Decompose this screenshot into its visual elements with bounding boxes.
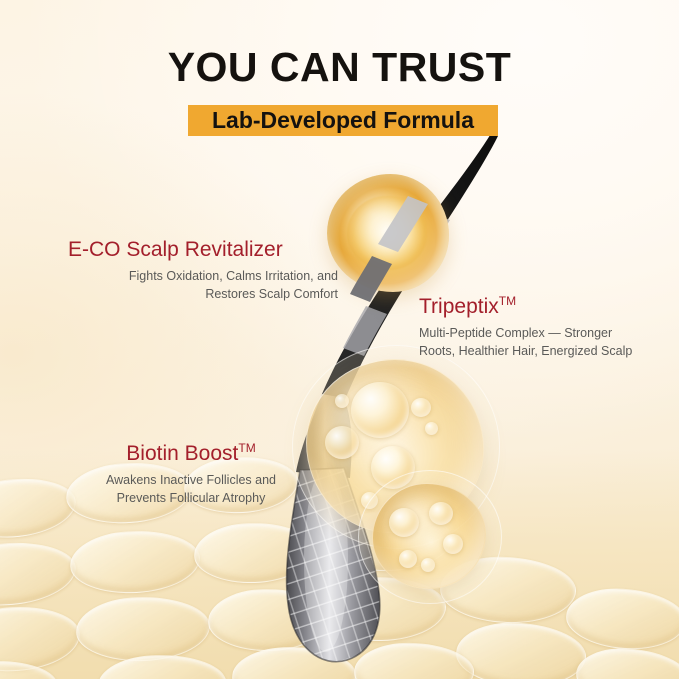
callout-body: Fights Oxidation, Calms Irritation, and … [38,267,338,303]
oil-droplet-top-core [347,196,427,270]
callout-body-line: Fights Oxidation, Calms Irritation, and [38,267,338,285]
callout-body-line: Roots, Healthier Hair, Energized Scalp [419,342,665,360]
callout-body: Multi-Peptide Complex — Stronger Roots, … [419,324,665,360]
callout-body-line: Prevents Follicular Atrophy [78,489,304,507]
callout-eco-scalp-revitalizer: E-CO Scalp Revitalizer Fights Oxidation,… [38,238,338,303]
callout-title-text: Tripeptix [419,295,499,318]
callout-title: E-CO Scalp Revitalizer [38,238,338,263]
page-headline: YOU CAN TRUST [0,44,679,91]
oil-droplet-small [372,483,486,589]
callout-title-text: E-CO Scalp Revitalizer [68,238,283,261]
lab-developed-badge: Lab-Developed Formula [188,105,498,136]
trademark-mark: TM [238,441,255,455]
callout-body-line: Awakens Inactive Follicles and [78,471,304,489]
product-ingredient-infographic: YOU CAN TRUST Lab-Developed Formula E-CO… [0,0,679,679]
callout-title-text: Biotin Boost [126,442,238,465]
callout-biotin-boost: Biotin BoostTM Awakens Inactive Follicle… [78,441,304,507]
callout-body: Awakens Inactive Follicles and Prevents … [78,471,304,507]
callout-body-line: Multi-Peptide Complex — Stronger [419,324,665,342]
callout-title: TripeptixTM [419,294,665,320]
callout-tripeptix: TripeptixTM Multi-Peptide Complex — Stro… [419,294,665,360]
callout-title: Biotin BoostTM [78,441,304,467]
trademark-mark: TM [499,294,516,308]
callout-body-line: Restores Scalp Comfort [38,285,338,303]
